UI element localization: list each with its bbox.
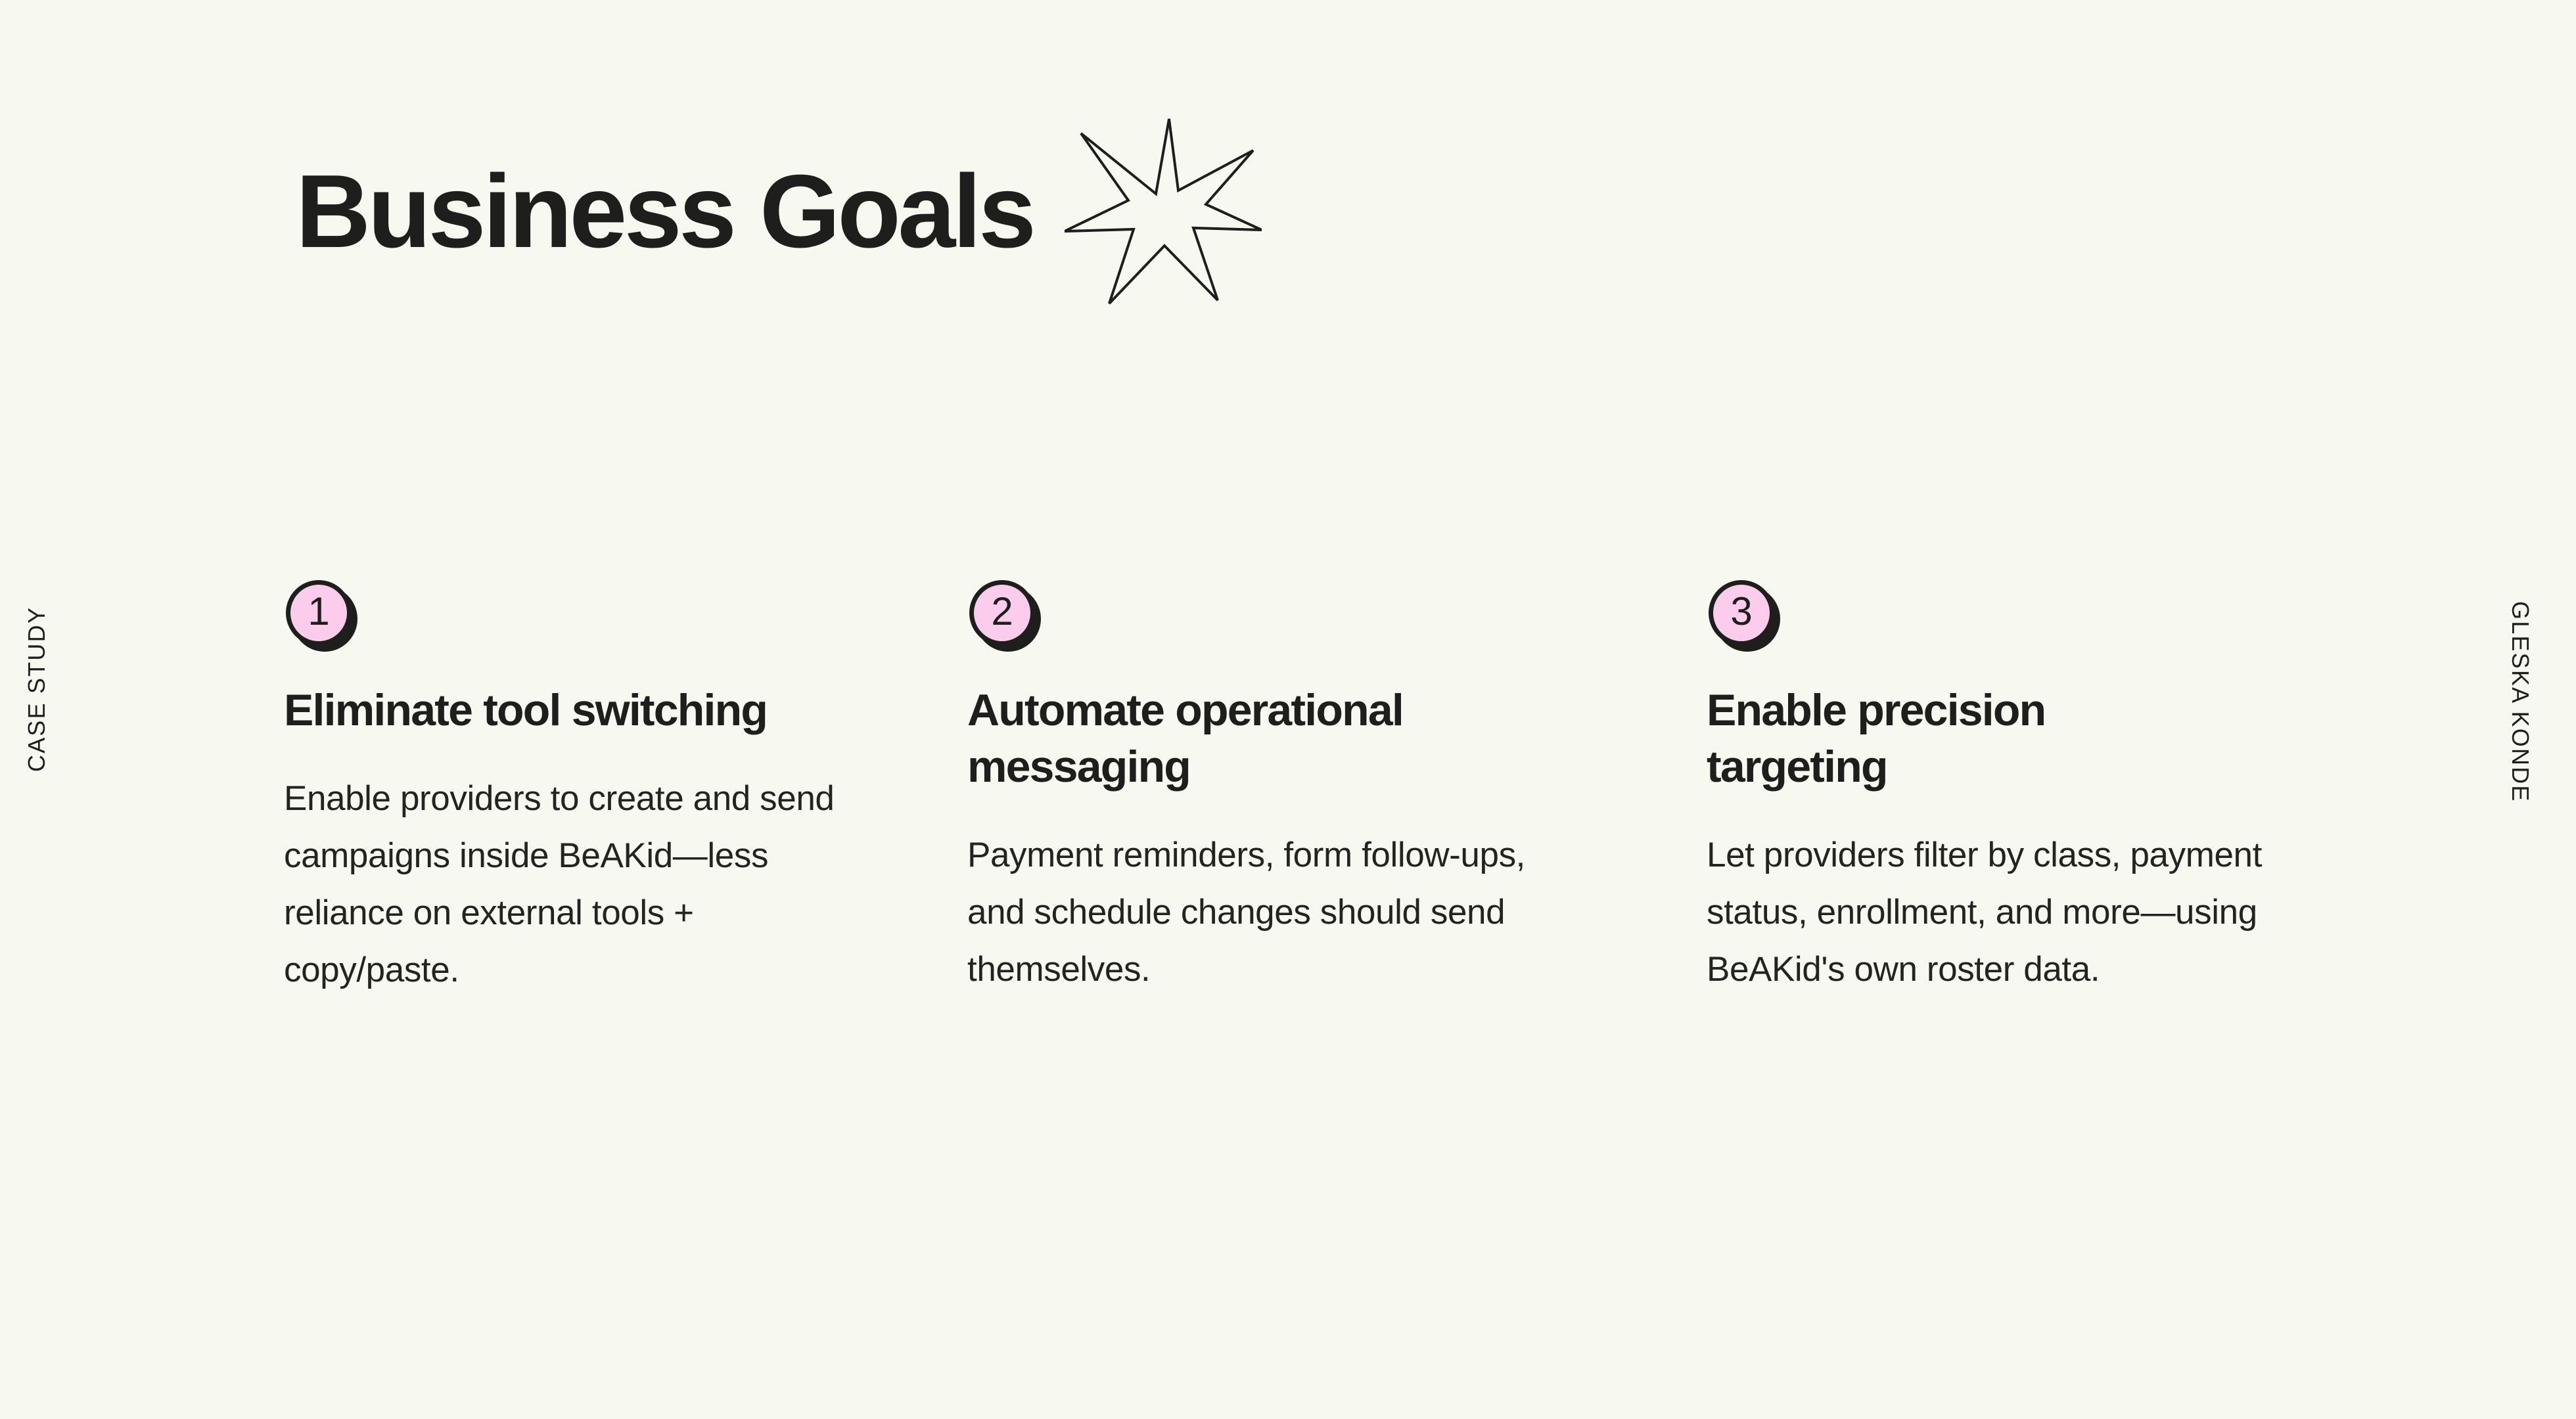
badge-circle: 3 [1709, 580, 1774, 646]
goal-card-2: 2 Automate operational messaging Payment… [967, 578, 1707, 999]
page-title: Business Goals [296, 128, 1033, 263]
goal-body: Enable providers to create and send camp… [284, 770, 862, 999]
badge-circle: 1 [286, 580, 352, 646]
goal-card-1: 1 Eliminate tool switching Enable provid… [284, 578, 967, 999]
goal-heading: Automate operational messaging [967, 682, 1631, 795]
badge-number: 2 [991, 592, 1013, 631]
goal-number-badge-3: 3 [1707, 578, 1784, 654]
goal-heading: Enable precision targeting [1707, 682, 2206, 795]
goal-card-3: 3 Enable precision targeting Let provide… [1707, 578, 2364, 999]
goal-body: Payment reminders, form follow-ups, and … [967, 826, 1539, 998]
goal-body: Let providers filter by class, payment s… [1707, 826, 2278, 998]
slide-root: CASE STUDY GLESKA KONDE Business Goals 1… [0, 0, 2576, 1419]
badge-circle: 2 [969, 580, 1035, 646]
goal-heading: Eliminate tool switching [284, 682, 783, 738]
goal-number-badge-2: 2 [967, 578, 1045, 654]
seven-point-star-icon [1065, 110, 1262, 307]
page-title-row: Business Goals [296, 128, 1262, 307]
badge-number: 3 [1730, 592, 1752, 631]
goals-list: 1 Eliminate tool switching Enable provid… [0, 578, 2576, 999]
badge-number: 1 [308, 592, 329, 631]
goal-number-badge-1: 1 [284, 578, 361, 654]
